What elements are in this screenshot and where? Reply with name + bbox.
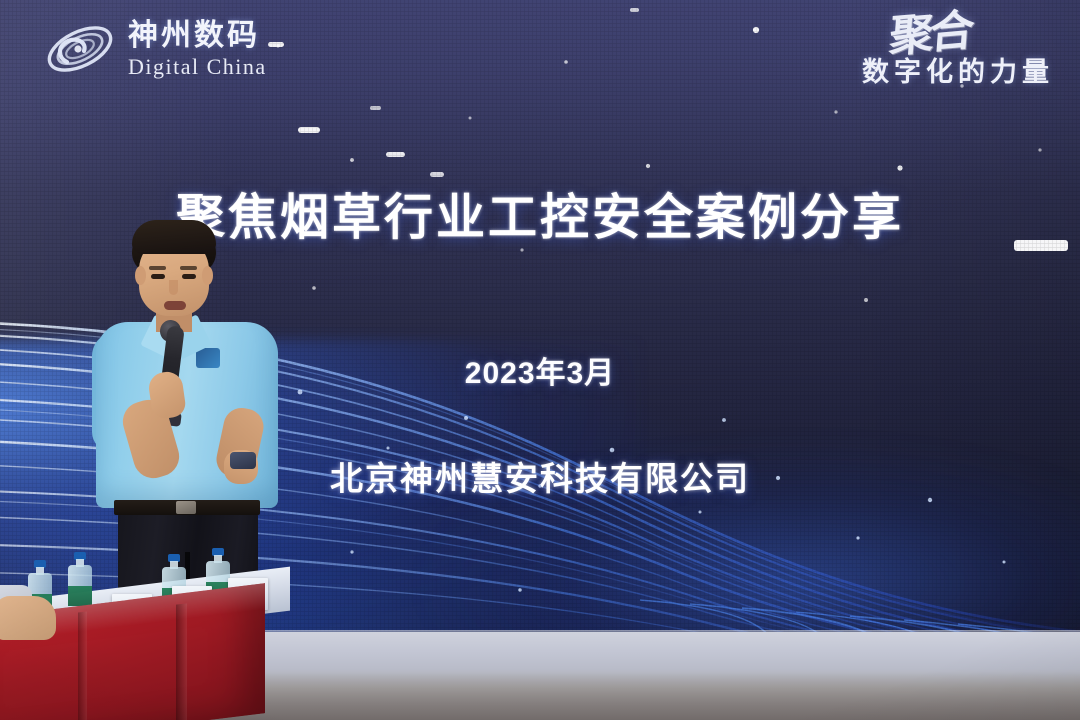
presenter-mouth (164, 301, 186, 310)
presenter-ear-right (202, 266, 213, 285)
presenter-eye-left (151, 274, 165, 279)
brand-name-cn: 神州数码 (128, 21, 267, 51)
event-logo: 聚合 数字化的力量 (862, 12, 1054, 89)
spiral-galaxy-icon (44, 18, 116, 80)
belt-buckle (176, 501, 196, 514)
brand-name-en: Digital China (128, 56, 267, 78)
shirt-logo-icon (196, 348, 220, 368)
stage-photo: 神州数码 Digital China 聚合 数字化的力量 聚焦烟草行业工控安全案… (0, 0, 1080, 720)
presenter-ear-left (135, 266, 146, 285)
presenter-hair-top (132, 220, 216, 254)
presentation-clicker-icon (230, 452, 256, 469)
presenter-nose (169, 280, 178, 295)
table-cloth-fold (78, 611, 87, 720)
presenter-eye-right (182, 274, 196, 279)
guest-hand (0, 596, 56, 640)
bottle-label (68, 586, 92, 606)
table-cloth-fold (176, 603, 187, 720)
presenter-brow-left (149, 266, 166, 270)
presenter-brow-right (180, 266, 197, 270)
digital-china-logo: 神州数码 Digital China (44, 18, 267, 80)
digital-china-wordmark: 神州数码 Digital China (128, 21, 267, 78)
